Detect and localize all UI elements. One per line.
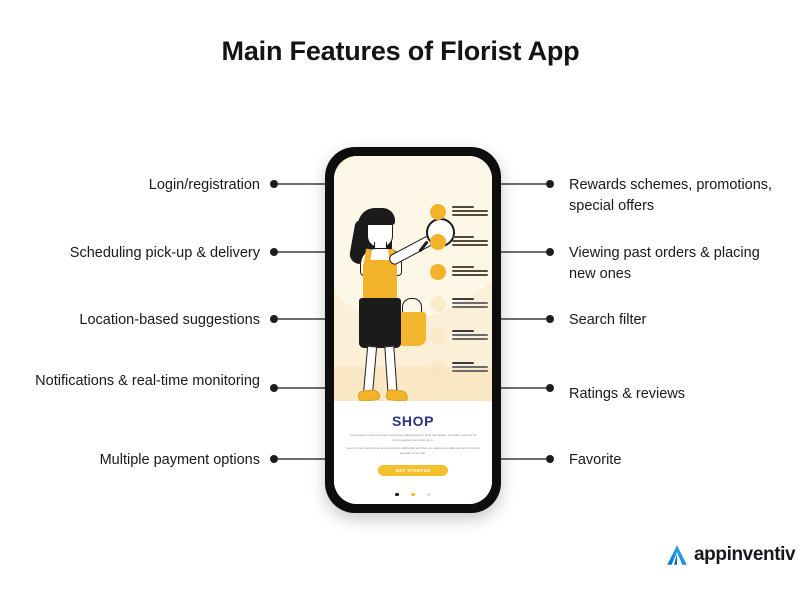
callout-left-1: Login/registration — [20, 175, 260, 196]
callout-left-3: Location-based suggestions — [20, 310, 260, 331]
list-item-lines — [452, 330, 488, 342]
get-started-button[interactable]: GET STARTED — [378, 465, 448, 476]
callout-left-2-leader — [278, 251, 326, 253]
callout-right-2-leader — [500, 251, 546, 253]
list-item[interactable] — [430, 204, 488, 216]
callout-left-3-dot — [270, 315, 278, 323]
list-item[interactable] — [430, 360, 488, 372]
callout-right-4-leader — [500, 387, 546, 389]
callout-left-1-dot — [270, 180, 278, 188]
phone-mockup: SHOP Lorem ipsum dolor sit amet consecte… — [325, 147, 501, 513]
flower-badge-icon — [430, 204, 446, 220]
list-item[interactable] — [430, 264, 488, 276]
list-item[interactable] — [430, 234, 488, 246]
callout-right-4: Ratings & reviews — [569, 384, 784, 405]
callout-right-3-dot — [546, 315, 554, 323]
callout-right-2: Viewing past orders & placing new ones — [569, 243, 784, 284]
phone-screen: SHOP Lorem ipsum dolor sit amet consecte… — [334, 156, 492, 504]
callout-right-5: Favorite — [569, 450, 784, 471]
callout-left-4: Notifications & real-time monitoring — [20, 371, 260, 392]
shoe-left — [357, 389, 380, 401]
faded-badge-icon — [430, 328, 446, 344]
brand-logo: appinventiv — [664, 542, 795, 568]
list-item[interactable] — [430, 296, 488, 308]
list-item-lines — [452, 266, 488, 278]
shop-paragraph-2: Lorem ipsum dolor sit amet consectetur a… — [346, 446, 480, 457]
pagination-dots — [334, 483, 492, 501]
pagination-dot-3[interactable] — [427, 493, 430, 496]
bag-badge-icon — [430, 264, 446, 280]
shop-paragraph-1: Lorem ipsum dolor sit amet consectetur a… — [346, 433, 480, 444]
callout-right-4-dot — [546, 384, 554, 392]
callout-right-3: Search filter — [569, 310, 784, 331]
callout-left-5-leader — [278, 458, 326, 460]
hair-front — [363, 208, 395, 225]
callout-left-2-dot — [270, 248, 278, 256]
callout-right-5-leader — [500, 458, 546, 460]
pagination-dot-1[interactable] — [395, 493, 398, 496]
onboarding-panel: SHOP Lorem ipsum dolor sit amet consecte… — [334, 401, 492, 504]
callout-right-1-leader — [500, 183, 546, 185]
faded-badge-icon — [430, 360, 446, 376]
pagination-dot-2-active[interactable] — [411, 493, 414, 496]
shop-heading: SHOP — [334, 413, 492, 429]
callout-left-4-leader — [278, 387, 326, 389]
list-badge-icon — [430, 234, 446, 250]
callout-left-3-leader — [278, 318, 326, 320]
hero-illustration — [334, 156, 492, 401]
callout-right-1: Rewards schemes, promotions, special off… — [569, 175, 784, 216]
skirt — [359, 298, 401, 348]
callout-left-5-dot — [270, 455, 278, 463]
callout-left-1-leader — [278, 183, 326, 185]
callout-left-5: Multiple payment options — [20, 450, 260, 471]
list-item-lines — [452, 206, 488, 218]
list-item-lines — [452, 298, 488, 310]
callout-right-5-dot — [546, 455, 554, 463]
yellow-top — [363, 260, 397, 302]
list-item-lines — [452, 236, 488, 248]
infographic-canvas: Main Features of Florist App Login/regis… — [0, 0, 801, 601]
appinventiv-a-mark-icon — [664, 542, 690, 568]
callout-right-3-leader — [500, 318, 546, 320]
logo-wordmark: appinventiv — [694, 544, 795, 566]
callout-right-2-dot — [546, 248, 554, 256]
page-title: Main Features of Florist App — [0, 36, 801, 67]
callout-right-1-dot — [546, 180, 554, 188]
callout-left-2: Scheduling pick-up & delivery — [20, 243, 260, 264]
faded-badge-icon — [430, 296, 446, 312]
list-item[interactable] — [430, 328, 488, 340]
list-item-lines — [452, 362, 488, 374]
callout-left-4-dot — [270, 384, 278, 392]
